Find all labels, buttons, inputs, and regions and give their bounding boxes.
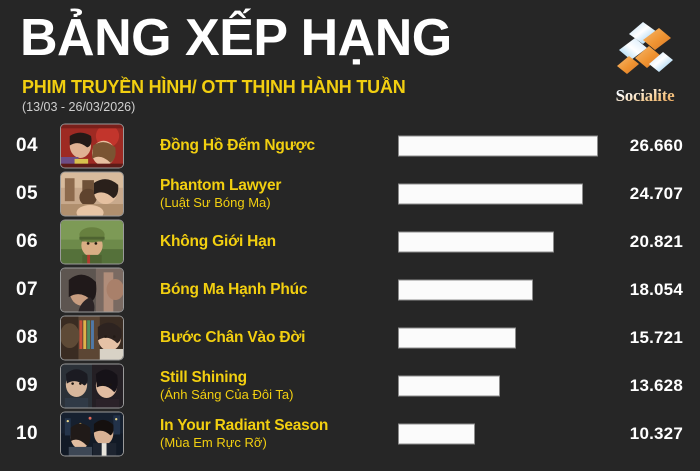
show-alt-title: (Mùa Em Rực Rỡ) <box>160 435 392 451</box>
rank-number: 09 <box>16 375 50 397</box>
show-title: Bước Chân Vào Đời <box>160 329 392 347</box>
title-block: Bóng Ma Hạnh Phúc <box>160 281 392 299</box>
brand-wordmark: Socialite <box>604 86 686 106</box>
bar-fill <box>398 232 554 253</box>
bar-fill <box>398 376 500 397</box>
show-title: Still Shining <box>160 369 392 387</box>
bar-track <box>398 232 598 253</box>
show-title: Không Giới Hạn <box>160 233 392 251</box>
bar-track <box>398 376 598 397</box>
thumbnail-phantom-lawyer[interactable] <box>60 172 124 217</box>
value-label: 15.721 <box>630 328 683 348</box>
show-alt-title: (Luật Sư Bóng Ma) <box>160 195 392 211</box>
list-item[interactable]: 05 Phantom Lawyer (Luật Sư Bóng Ma) 24.7… <box>0 170 700 218</box>
rank-number: 05 <box>16 183 50 205</box>
title-block: Không Giới Hạn <box>160 233 392 251</box>
title-block: Đồng Hồ Đếm Ngược <box>160 137 392 155</box>
list-item[interactable]: 08 Bước Chân Vào Đời 15.721 <box>0 314 700 362</box>
date-range-label: (13/03 - 26/03/2026) <box>22 100 135 115</box>
value-label: 20.821 <box>630 232 683 252</box>
value-label: 24.707 <box>630 184 683 204</box>
ranking-list: 04 Đồng Hồ Đếm Ngược 26.660 05 <box>0 122 700 458</box>
value-label: 10.327 <box>630 424 683 444</box>
bar-fill <box>398 328 516 349</box>
bar-track <box>398 280 598 301</box>
page-title: BẢNG XẾP HẠNG <box>20 8 452 68</box>
show-title: Bóng Ma Hạnh Phúc <box>160 281 392 299</box>
value-label: 13.628 <box>630 376 683 396</box>
title-block: Still Shining (Ánh Sáng Của Đôi Ta) <box>160 369 392 403</box>
title-block: Bước Chân Vào Đời <box>160 329 392 347</box>
thumbnail-dong-ho-dem-nguoc[interactable] <box>60 124 124 169</box>
value-label: 18.054 <box>630 280 683 300</box>
show-title: Phantom Lawyer <box>160 177 392 195</box>
thumbnail-in-your-radiant-season[interactable] <box>60 412 124 457</box>
title-block: In Your Radiant Season (Mùa Em Rực Rỡ) <box>160 417 392 451</box>
thumbnail-buoc-chan-vao-doi[interactable] <box>60 316 124 361</box>
thumbnail-bong-ma-hanh-phuc[interactable] <box>60 268 124 313</box>
header: BẢNG XẾP HẠNG PHIM TRUYỀN HÌNH/ OTT THỊN… <box>0 0 700 122</box>
bar-track <box>398 424 598 445</box>
list-item[interactable]: 09 Still Shining (Ánh Sáng Của Đôi Ta) <box>0 362 700 410</box>
rank-number: 08 <box>16 327 50 349</box>
thumbnail-still-shining[interactable] <box>60 364 124 409</box>
bar-fill <box>398 136 598 157</box>
bar-track <box>398 136 598 157</box>
show-title: Đồng Hồ Đếm Ngược <box>160 137 392 155</box>
page-subtitle: PHIM TRUYỀN HÌNH/ OTT THỊNH HÀNH TUẦN <box>22 76 406 98</box>
value-label: 26.660 <box>630 136 683 156</box>
bar-track <box>398 328 598 349</box>
rank-number: 07 <box>16 279 50 301</box>
show-alt-title: (Ánh Sáng Của Đôi Ta) <box>160 387 392 403</box>
list-item[interactable]: 06 Không Giới Hạn 20.821 <box>0 218 700 266</box>
list-item[interactable]: 07 Bóng Ma Hạnh Phúc 18.054 <box>0 266 700 314</box>
bar-track <box>398 184 598 205</box>
title-block: Phantom Lawyer (Luật Sư Bóng Ma) <box>160 177 392 211</box>
rank-number: 10 <box>16 423 50 445</box>
bar-fill <box>398 184 583 205</box>
rank-number: 06 <box>16 231 50 253</box>
brand-logo: Socialite <box>604 18 686 108</box>
bar-fill <box>398 424 475 445</box>
show-title: In Your Radiant Season <box>160 417 392 435</box>
list-item[interactable]: 10 In Your Radiant Season <box>0 410 700 458</box>
thumbnail-khong-gioi-han[interactable] <box>60 220 124 265</box>
socialite-s-logo-icon <box>613 18 677 80</box>
bar-fill <box>398 280 533 301</box>
rank-number: 04 <box>16 135 50 157</box>
list-item[interactable]: 04 Đồng Hồ Đếm Ngược 26.660 <box>0 122 700 170</box>
